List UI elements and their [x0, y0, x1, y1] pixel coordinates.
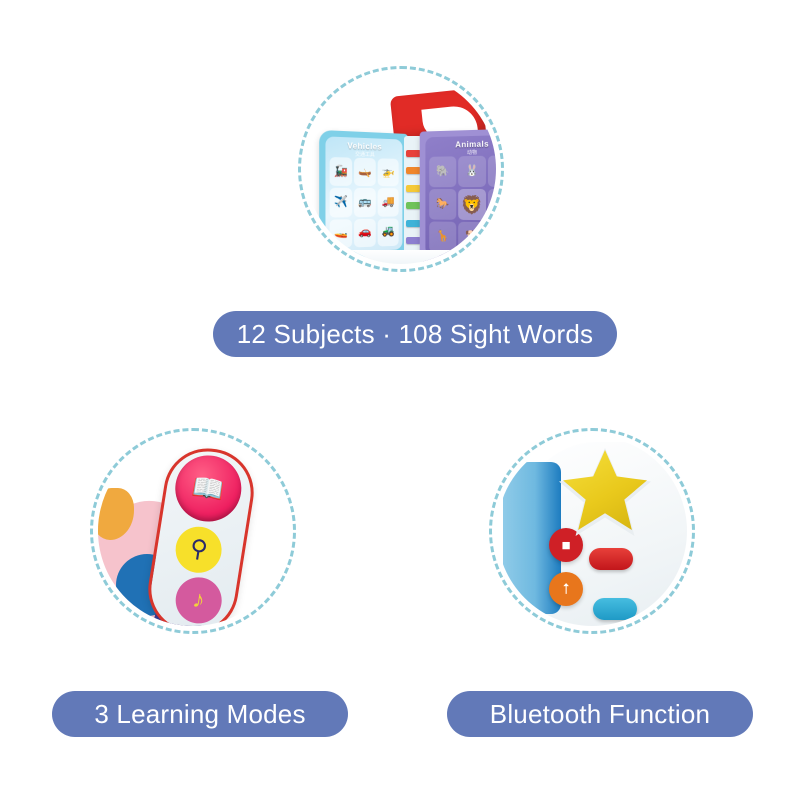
- search-mode-button[interactable]: ⚲: [172, 523, 225, 576]
- vehicle-icon: ✈️: [330, 188, 352, 217]
- vehicle-icon: 🛶: [354, 158, 376, 187]
- red-switch[interactable]: [589, 548, 633, 570]
- vehicle-icon: 🚜: [378, 218, 399, 246]
- animal-icon: 🐰: [458, 156, 486, 187]
- vehicle-icon: 🚚: [378, 188, 399, 216]
- product-photo-subjects: Vehicles 交通工具 🚂 🛶 🚁 ✈️ 🚌 🚚 🚤 🚗 🚜: [306, 74, 496, 264]
- spine-tab: [406, 237, 421, 244]
- animal-icon: 🐒: [488, 155, 496, 187]
- spine-tab: [406, 185, 421, 192]
- book-icon: 📖: [190, 473, 226, 504]
- magnifier-icon: ⚲: [188, 537, 209, 563]
- feature-panel-bluetooth: ■ ⭡ Bluetooth Function: [400, 400, 800, 800]
- caption-pill-subjects: 12 Subjects · 108 Sight Words: [213, 311, 617, 357]
- bluetooth-scene: ■ ⭡: [497, 436, 687, 626]
- photo-circle-subjects: Vehicles 交通工具 🚂 🛶 🚁 ✈️ 🚌 🚚 🚤 🚗 🚜: [298, 66, 504, 272]
- photo-circle-learning-modes: 📖 ⚲ ♪: [90, 428, 296, 634]
- stop-square-icon: ■: [561, 537, 570, 554]
- mode-button-panel: 📖 ⚲ ♪: [142, 442, 260, 626]
- vehicle-icon: 🚌: [354, 188, 376, 217]
- spine-tab: [406, 202, 421, 209]
- vehicle-icon: 🚗: [354, 218, 376, 247]
- blue-switch[interactable]: [593, 598, 637, 620]
- music-mode-button[interactable]: ♪: [172, 574, 225, 626]
- book-screen-animals: Animals 动物 🐘 🐰 🐒 🐎 🦁 🐼 🦒 🐕 🐘: [425, 135, 496, 259]
- spine-tab: [406, 150, 421, 157]
- product-photo-learning-modes: 📖 ⚲ ♪: [98, 436, 288, 626]
- product-photo-bluetooth: ■ ⭡: [497, 436, 687, 626]
- caption-pill-learning-modes: 3 Learning Modes: [52, 691, 348, 737]
- book-mode-button[interactable]: 📖: [171, 451, 247, 527]
- animal-icon: 🐼: [488, 189, 496, 221]
- music-note-icon: ♪: [191, 588, 207, 614]
- animal-icon: 🐕: [458, 222, 486, 254]
- vehicle-icon-grid: 🚂 🛶 🚁 ✈️ 🚌 🚚 🚤 🚗 🚜: [330, 157, 399, 248]
- photo-circle-bluetooth: ■ ⭡: [489, 428, 695, 634]
- animal-icon: 🦒: [429, 221, 456, 252]
- vehicle-icon: 🚂: [330, 157, 352, 186]
- animal-icon-grid: 🐘 🐰 🐒 🐎 🦁 🐼 🦒 🐕 🐘: [429, 155, 496, 254]
- book-screen-vehicles: Vehicles 交通工具 🚂 🛶 🚁 ✈️ 🚌 🚚 🚤 🚗 🚜: [325, 136, 402, 252]
- bluetooth-icon: ⭡: [562, 581, 569, 598]
- book-page-left: Vehicles 交通工具 🚂 🛶 🚁 ✈️ 🚌 🚚 🚤 🚗 🚜: [319, 130, 408, 259]
- spine-tab: [406, 167, 421, 174]
- caption-pill-bluetooth: Bluetooth Function: [447, 691, 753, 737]
- spine-tab: [406, 220, 421, 227]
- animal-icon: 🐎: [429, 189, 456, 220]
- animal-icon: 🐘: [429, 156, 456, 187]
- vehicle-icon: 🚁: [378, 158, 399, 186]
- bluetooth-button[interactable]: ⭡: [549, 572, 583, 606]
- feature-panel-learning-modes: 📖 ⚲ ♪ 3 Learning Modes: [0, 400, 400, 800]
- animal-icon-center: 🦁: [458, 189, 486, 220]
- book-scene: Vehicles 交通工具 🚂 🛶 🚁 ✈️ 🚌 🚚 🚤 🚗 🚜: [306, 74, 496, 264]
- feature-panel-subjects: Vehicles 交通工具 🚂 🛶 🚁 ✈️ 🚌 🚚 🚤 🚗 🚜: [0, 0, 800, 380]
- book-page-right: Animals 动物 🐘 🐰 🐒 🐎 🦁 🐼 🦒 🐕 🐘: [420, 128, 496, 264]
- modes-scene: 📖 ⚲ ♪: [98, 436, 288, 626]
- vehicle-icon: 🚤: [330, 219, 352, 248]
- book-base: [316, 250, 496, 264]
